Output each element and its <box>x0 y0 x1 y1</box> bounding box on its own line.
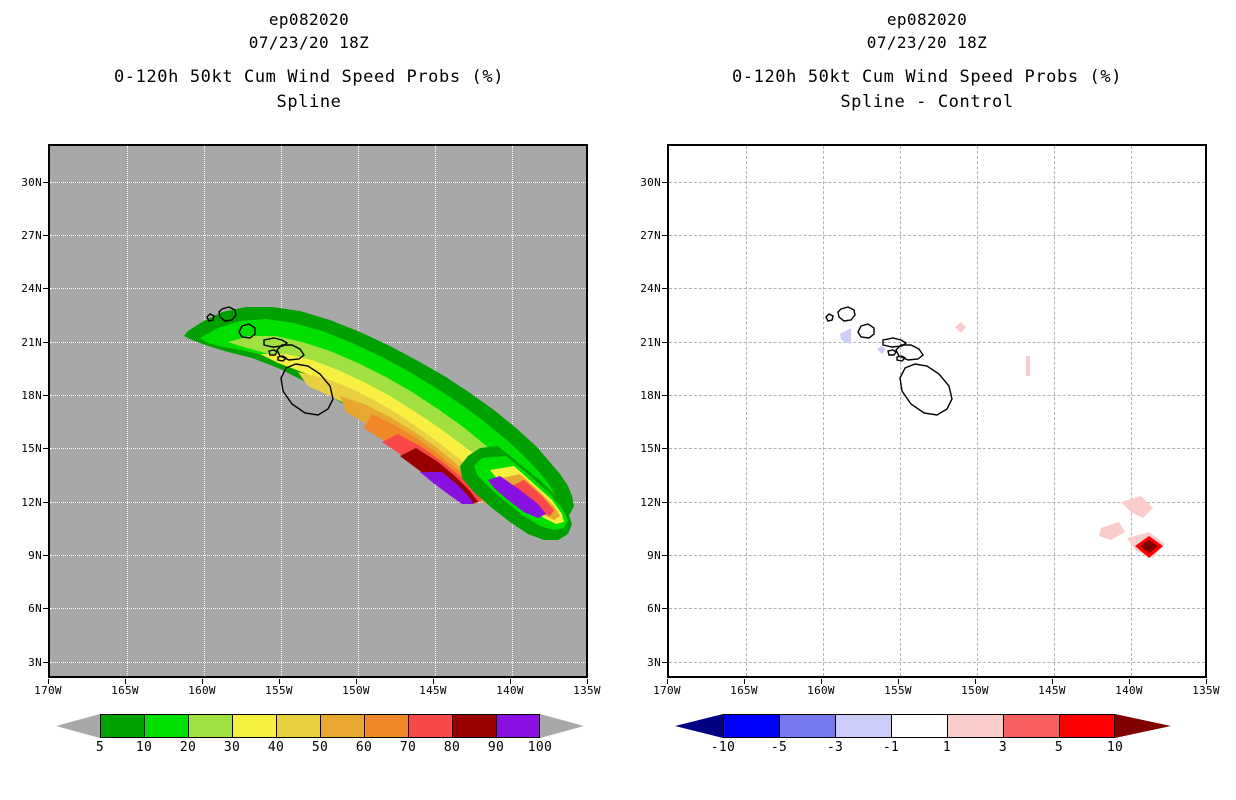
colorbar-tick-20: 20 <box>168 740 208 755</box>
island-niihau <box>207 314 214 321</box>
colorbar-segment-minus5[interactable] <box>779 714 835 738</box>
colorbar-left[interactable] <box>100 714 540 738</box>
colorbar-tick-minus10: -10 <box>703 740 743 755</box>
left-title: 0-120h 50kt Cum Wind Speed Probs (%) <box>0 64 618 90</box>
colorbar-right[interactable] <box>723 714 1115 738</box>
colorbar-tick-minus5: -5 <box>759 740 799 755</box>
panel-spline: ep082020 07/23/20 18Z 0-120h 50kt Cum Wi… <box>0 0 618 800</box>
colorbar-segment-70[interactable] <box>408 714 452 738</box>
colorbar-under-arrow <box>56 714 100 738</box>
panel-spline-minus-control: ep082020 07/23/20 18Z 0-120h 50kt Cum Wi… <box>618 0 1236 800</box>
difference-anomaly-field <box>669 146 1205 676</box>
colorbar-segment-5[interactable] <box>1059 714 1115 738</box>
x-label-155w: 155W <box>256 684 302 697</box>
colorbar-under-arrow <box>675 714 723 738</box>
x-label-160w: 160W <box>179 684 225 697</box>
x-label-170w: 170W <box>25 684 71 697</box>
colorbar-tick-3: 3 <box>983 740 1023 755</box>
colorbar-tick-1: 1 <box>927 740 967 755</box>
y-label-24n: 24N <box>621 282 661 295</box>
colorbar-segment-minus10[interactable] <box>723 714 779 738</box>
island-oahu <box>858 324 874 338</box>
right-datetime: 07/23/20 18Z <box>618 31 1236 54</box>
colorbar-segment-50[interactable] <box>320 714 364 738</box>
y-label-9n: 9N <box>621 549 661 562</box>
y-label-21n: 21N <box>2 336 42 349</box>
colorbar-tick-5: 5 <box>80 740 120 755</box>
y-label-27n: 27N <box>2 229 42 242</box>
colorbar-segment-20[interactable] <box>188 714 232 738</box>
y-label-15n: 15N <box>621 442 661 455</box>
y-label-18n: 18N <box>621 389 661 402</box>
x-label-150w: 150W <box>333 684 379 697</box>
x-label-165w: 165W <box>721 684 767 697</box>
colorbar-over-arrow <box>540 714 584 738</box>
anomaly-patch-positive <box>1121 496 1153 518</box>
colorbar-tick-60: 60 <box>344 740 384 755</box>
anomaly-patch-negative <box>877 346 886 354</box>
left-storm-id: ep082020 <box>0 8 618 31</box>
hawaii-island-outlines <box>826 307 952 415</box>
x-label-140w: 140W <box>1106 684 1152 697</box>
colorbar-segment-90[interactable] <box>496 714 540 738</box>
left-subtitle: Spline <box>0 90 618 114</box>
anomaly-patch-positive <box>955 322 966 333</box>
y-label-21n: 21N <box>621 336 661 349</box>
colorbar-tick-30: 30 <box>212 740 252 755</box>
y-label-12n: 12N <box>2 496 42 509</box>
colorbar-tick-90: 90 <box>476 740 516 755</box>
y-label-12n: 12N <box>621 496 661 509</box>
colorbar-segment-10[interactable] <box>144 714 188 738</box>
anomaly-patch-positive <box>1026 356 1030 376</box>
colorbar-segment-5[interactable] <box>100 714 144 738</box>
y-label-27n: 27N <box>621 229 661 242</box>
colorbar-tick-80: 80 <box>432 740 472 755</box>
colorbar-segment-1[interactable] <box>947 714 1003 738</box>
island-hawaii <box>900 364 952 415</box>
colorbar-tick-10: 10 <box>124 740 164 755</box>
right-title: 0-120h 50kt Cum Wind Speed Probs (%) <box>618 64 1236 90</box>
right-subtitle: Spline - Control <box>618 90 1236 114</box>
island-kahoolawe <box>897 356 905 361</box>
y-label-6n: 6N <box>621 602 661 615</box>
colorbar-tick-100: 100 <box>520 740 560 755</box>
colorbar-segment-3[interactable] <box>1003 714 1059 738</box>
left-datetime: 07/23/20 18Z <box>0 31 618 54</box>
x-label-150w: 150W <box>952 684 998 697</box>
colorbar-segment-minus3[interactable] <box>835 714 891 738</box>
colorbar-tick-70: 70 <box>388 740 428 755</box>
anomaly-patch-positive <box>1099 522 1125 540</box>
colorbar-segment-30[interactable] <box>232 714 276 738</box>
colorbar-tick-minus3: -3 <box>815 740 855 755</box>
left-panel-titles: ep082020 07/23/20 18Z 0-120h 50kt Cum Wi… <box>0 8 618 114</box>
right-plot-area <box>667 144 1207 678</box>
x-label-145w: 145W <box>410 684 456 697</box>
y-label-9n: 9N <box>2 549 42 562</box>
colorbar-segment-80[interactable] <box>452 714 496 738</box>
island-maui <box>896 345 923 360</box>
colorbar-over-arrow <box>1115 714 1171 738</box>
x-label-145w: 145W <box>1029 684 1075 697</box>
x-label-170w: 170W <box>644 684 690 697</box>
colorbar-tick-40: 40 <box>256 740 296 755</box>
x-label-165w: 165W <box>102 684 148 697</box>
x-label-155w: 155W <box>875 684 921 697</box>
x-label-135w: 135W <box>1183 684 1229 697</box>
y-label-3n: 3N <box>621 656 661 669</box>
y-label-6n: 6N <box>2 602 42 615</box>
y-label-24n: 24N <box>2 282 42 295</box>
colorbar-segment-40[interactable] <box>276 714 320 738</box>
colorbar-segment-minus1[interactable] <box>891 714 947 738</box>
y-label-30n: 30N <box>2 176 42 189</box>
y-label-30n: 30N <box>621 176 661 189</box>
y-label-3n: 3N <box>2 656 42 669</box>
colorbar-tick-minus1: -1 <box>871 740 911 755</box>
island-kauai <box>838 307 855 321</box>
probability-contour-field <box>50 146 586 676</box>
x-label-140w: 140W <box>487 684 533 697</box>
x-label-160w: 160W <box>798 684 844 697</box>
colorbar-tick-10: 10 <box>1095 740 1135 755</box>
left-plot-area <box>48 144 588 678</box>
colorbar-segment-60[interactable] <box>364 714 408 738</box>
right-storm-id: ep082020 <box>618 8 1236 31</box>
y-label-18n: 18N <box>2 389 42 402</box>
island-lanai <box>888 350 896 355</box>
colorbar-tick-50: 50 <box>300 740 340 755</box>
anomaly-patch-negative <box>840 328 851 344</box>
x-label-135w: 135W <box>564 684 610 697</box>
right-panel-titles: ep082020 07/23/20 18Z 0-120h 50kt Cum Wi… <box>618 8 1236 114</box>
y-label-15n: 15N <box>2 442 42 455</box>
island-niihau <box>826 314 833 321</box>
colorbar-tick-5: 5 <box>1039 740 1079 755</box>
